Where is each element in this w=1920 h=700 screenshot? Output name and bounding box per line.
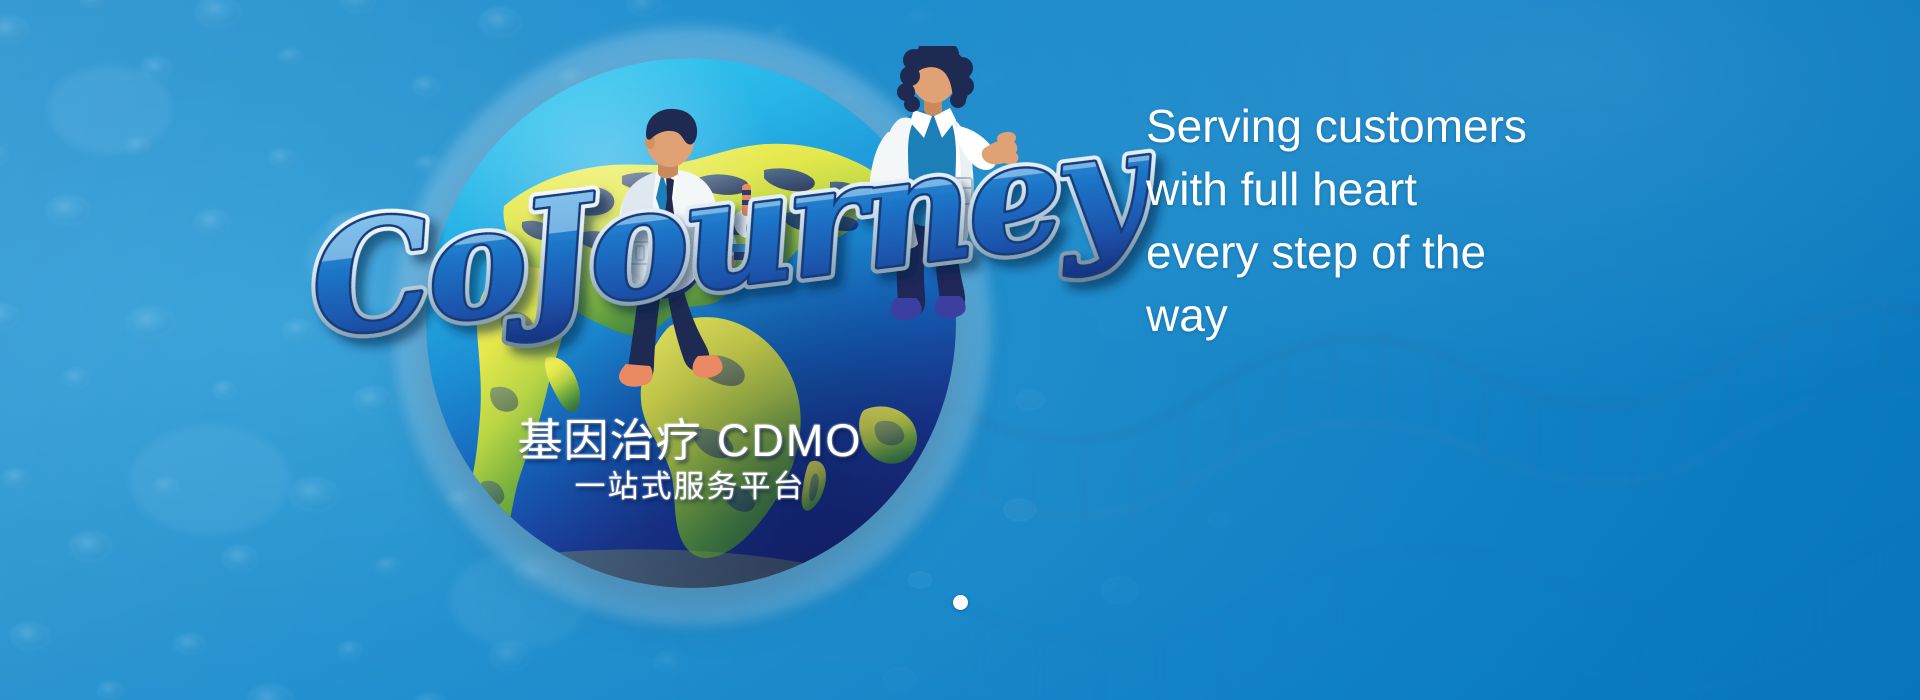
hero-tagline: Serving customers with full heart every … xyxy=(1146,95,1616,347)
hero-tagline-line-2: with full heart xyxy=(1146,158,1616,221)
cojourney-wordmark: CoJourney CoJourney CoJourney CoJourney xyxy=(300,168,980,358)
hero-tagline-line-1: Serving customers xyxy=(1146,95,1616,158)
hero-tagline-line-4: way xyxy=(1146,284,1616,347)
carousel-indicators[interactable] xyxy=(0,595,1920,610)
carousel-dot-1[interactable] xyxy=(953,595,968,610)
hero-tagline-line-3: every step of the xyxy=(1146,221,1616,284)
hero-banner: CoJourney CoJourney CoJourney CoJourney … xyxy=(0,0,1920,700)
